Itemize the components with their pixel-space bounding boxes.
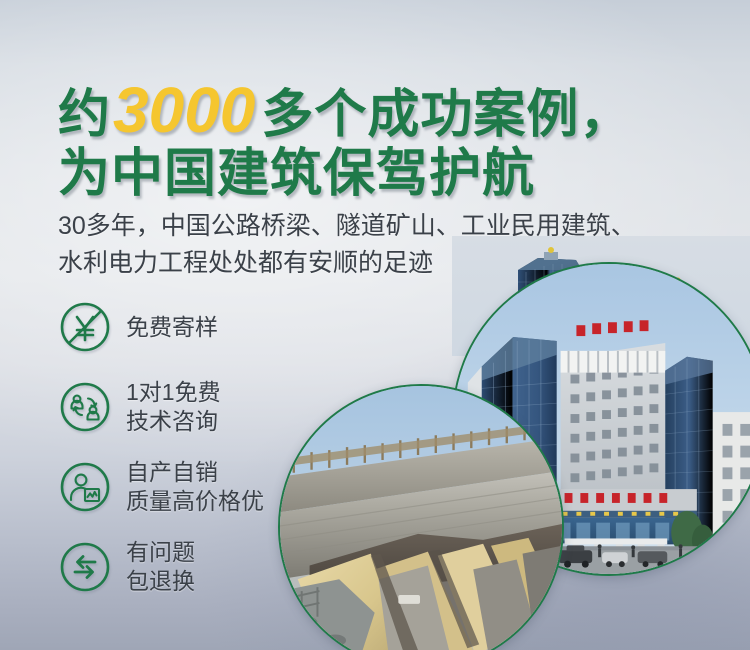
headline-suffix: 多个成功案例，: [261, 89, 632, 141]
one-on-one-people-icon: [58, 380, 112, 434]
feature-list: 免费寄样 1对1免费 技术咨: [58, 296, 358, 616]
subtitle: 30多年，中国公路桥梁、隧道矿山、工业民用建筑、 水利电力工程处处都有安顺的足迹: [58, 208, 636, 281]
feature-item-return-exchange[interactable]: 有问题 包退换: [58, 536, 358, 598]
feature-label: 有问题 包退换: [126, 538, 195, 596]
headline: 约 3000 多个成功案例， 为中国建筑保驾护航: [58, 78, 632, 200]
headline-line-1: 约 3000 多个成功案例，: [58, 78, 632, 142]
headline-line-2: 为中国建筑保驾护航: [58, 148, 632, 200]
person-chart-icon: [58, 460, 112, 514]
promo-banner: 约 3000 多个成功案例， 为中国建筑保驾护航 30多年，中国公路桥梁、隧道矿…: [0, 0, 750, 650]
exchange-arrows-icon: [58, 540, 112, 594]
feature-label: 1对1免费 技术咨询: [126, 378, 221, 436]
headline-prefix: 约: [58, 89, 111, 141]
feature-item-self-production[interactable]: 自产自销 质量高价格优: [58, 456, 358, 518]
feature-label: 自产自销 质量高价格优: [126, 458, 264, 516]
feature-item-consultation[interactable]: 1对1免费 技术咨询: [58, 376, 358, 438]
subtitle-line-1: 30多年，中国公路桥梁、隧道矿山、工业民用建筑、: [58, 208, 636, 245]
no-fee-yuan-icon: [58, 300, 112, 354]
feature-label: 免费寄样: [126, 313, 218, 342]
feature-item-free-sample[interactable]: 免费寄样: [58, 296, 358, 358]
headline-number: 3000: [113, 78, 255, 142]
